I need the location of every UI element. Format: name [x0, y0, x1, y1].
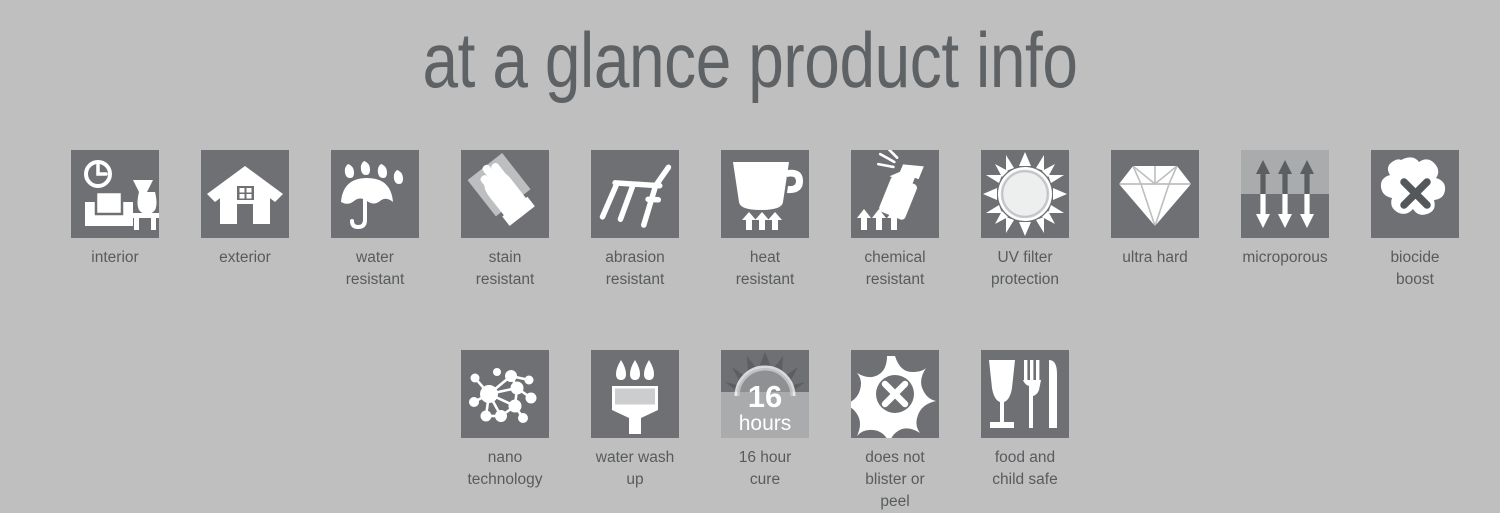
feature-item-food-and-child-safe[interactable]: food andchild safe	[960, 350, 1090, 491]
mould-blob-cross-icon	[1371, 150, 1459, 238]
feature-item-abrasion-resistant[interactable]: abrasionresistant	[570, 150, 700, 291]
feature-item-chemical-resistant[interactable]: chemicalresistant	[830, 150, 960, 291]
paint-brush-drops-icon	[591, 350, 679, 438]
feature-label: water washup	[570, 447, 700, 491]
feature-label: exterior	[180, 247, 310, 269]
feature-label: nanotechnology	[440, 447, 570, 491]
feature-label: 16 hourcure	[700, 447, 830, 491]
glass-fork-knife-icon	[981, 350, 1069, 438]
feature-item-does-not-blister-or-peel[interactable]: does notblister orpeel	[830, 350, 960, 513]
feature-item-exterior[interactable]: exterior	[180, 150, 310, 269]
feature-item-water-wash-up[interactable]: water washup	[570, 350, 700, 491]
feature-item-biocide-boost[interactable]: biocideboost	[1350, 150, 1480, 291]
feature-label: food andchild safe	[960, 447, 1090, 491]
spray-bottle-arrows-icon	[851, 150, 939, 238]
feature-item-stain-resistant[interactable]: stainresistant	[440, 150, 570, 291]
feature-label: biocideboost	[1350, 247, 1480, 291]
molecule-network-icon	[461, 350, 549, 438]
hot-cup-arrows-icon	[721, 150, 809, 238]
gloved-hand-wipe-icon	[461, 150, 549, 238]
feature-label: interior	[50, 247, 180, 269]
diamond-icon	[1111, 150, 1199, 238]
sun-16-hours-icon: 16hours	[721, 350, 809, 438]
house-icon	[201, 150, 289, 238]
page-title: at a glance product info	[135, 14, 1365, 106]
breathable-arrows-icon	[1241, 150, 1329, 238]
feature-label: heatresistant	[700, 247, 830, 291]
feature-item-water-resistant[interactable]: waterresistant	[310, 150, 440, 291]
feature-label: UV filterprotection	[960, 247, 1090, 291]
feature-label: ultra hard	[1090, 247, 1220, 269]
cure-time-number: 16	[748, 381, 782, 412]
feature-label: waterresistant	[310, 247, 440, 291]
feature-item-interior[interactable]: interior	[50, 150, 180, 269]
sun-icon	[981, 150, 1069, 238]
feature-label: does notblister orpeel	[830, 447, 960, 513]
feature-item-nano-technology[interactable]: nanotechnology	[440, 350, 570, 491]
cure-time-unit: hours	[739, 413, 792, 434]
feature-label: stainresistant	[440, 247, 570, 291]
feature-item-microporous[interactable]: microporous	[1220, 150, 1350, 269]
feature-item-ultra-hard[interactable]: ultra hard	[1090, 150, 1220, 269]
feature-item-heat-resistant[interactable]: heatresistant	[700, 150, 830, 291]
umbrella-rain-icon	[331, 150, 419, 238]
feature-label: chemicalresistant	[830, 247, 960, 291]
chair-icon	[591, 150, 679, 238]
cure-time-badge: 16hours	[721, 350, 809, 438]
blister-cross-icon	[851, 350, 939, 438]
feature-label: microporous	[1220, 247, 1350, 269]
feature-item-16-hour-cure[interactable]: 16hours16 hourcure	[700, 350, 830, 491]
interior-room-icon	[71, 150, 159, 238]
feature-item-uv-filter-protection[interactable]: UV filterprotection	[960, 150, 1090, 291]
feature-label: abrasionresistant	[570, 247, 700, 291]
